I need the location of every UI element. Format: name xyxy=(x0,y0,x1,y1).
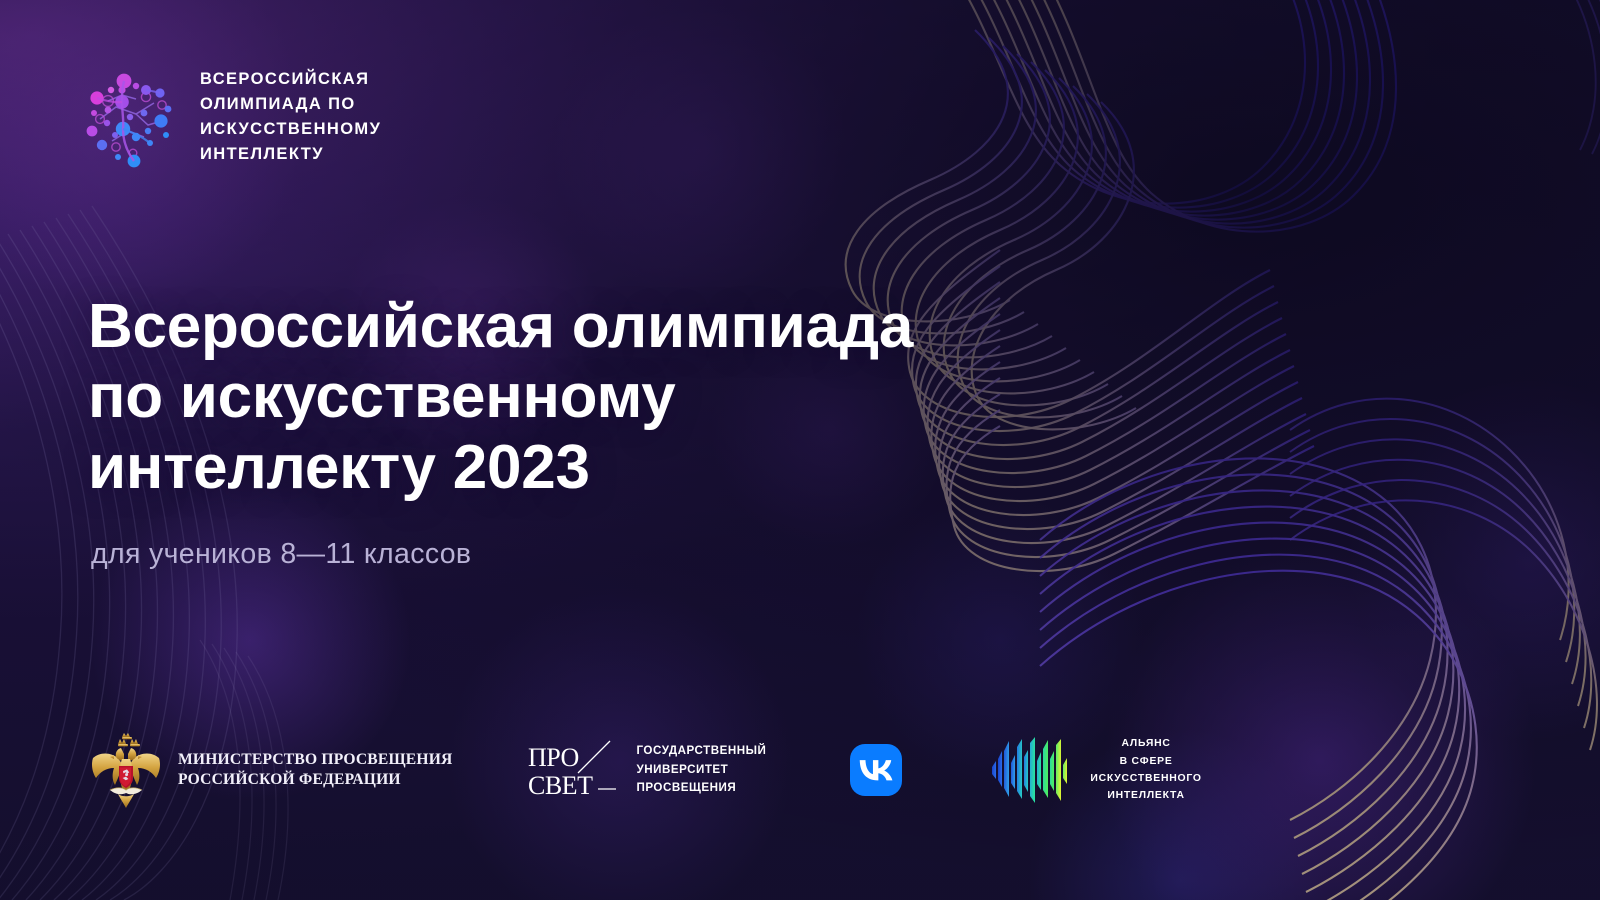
page-title: Всероссийская олимпиада по искусственном… xyxy=(88,292,988,503)
partner-label-ai-alliance: АЛЬЯНС В СФЕРЕ ИСКУССТВЕННОГО ИНТЕЛЛЕКТА xyxy=(1090,735,1201,804)
partner-logo-ministry-of-education[interactable]: МИНИСТЕРСТВО ПРОСВЕЩЕНИЯ РОССИЙСКОЙ ФЕДЕ… xyxy=(88,730,452,810)
partner-logo-ai-alliance[interactable]: АЛЬЯНС В СФЕРЕ ИСКУССТВЕННОГО ИНТЕЛЛЕКТА xyxy=(990,735,1201,804)
partner-label-prosvet-university: ГОСУДАРСТВЕННЫЙ УНИВЕРСИТЕТ ПРОСВЕЩЕНИЯ xyxy=(636,742,766,798)
partner-logo-strip: МИНИСТЕРСТВО ПРОСВЕЩЕНИЯ РОССИЙСКОЙ ФЕДЕ… xyxy=(88,722,1202,818)
partner-label-ministry-of-education: МИНИСТЕРСТВО ПРОСВЕЩЕНИЯ РОССИЙСКОЙ ФЕДЕ… xyxy=(178,750,452,791)
russian-double-headed-eagle-icon xyxy=(88,730,164,810)
hero-block: Всероссийская олимпиада по искусственном… xyxy=(88,292,988,571)
page-subtitle: для учеников 8—11 классов xyxy=(91,537,988,571)
partner-logo-vk[interactable] xyxy=(850,744,902,796)
olympiad-logo-wordmark: ВСЕРОССИЙСКАЯ ОЛИМПИАДА ПО ИСКУССТВЕННОМ… xyxy=(200,67,381,167)
alliance-soundwave-bars-icon xyxy=(990,737,1072,803)
olympiad-logo-lockup[interactable]: ВСЕРОССИЙСКАЯ ОЛИМПИАДА ПО ИСКУССТВЕННОМ… xyxy=(78,57,381,177)
vk-logo-icon xyxy=(850,744,902,796)
promo-banner: ВСЕРОССИЙСКАЯ ОЛИМПИАДА ПО ИСКУССТВЕННОМ… xyxy=(0,0,1600,900)
svg-text:СВЕТ: СВЕТ xyxy=(528,771,593,800)
svg-text:ПРО: ПРО xyxy=(528,743,579,772)
prosvet-monogram-icon: ПРО СВЕТ xyxy=(526,739,618,801)
partner-logo-prosvet-university[interactable]: ПРО СВЕТ ГОСУДАРСТВЕННЫЙ УНИВЕРСИТЕТ ПРО… xyxy=(526,739,766,801)
ai-network-nodes-icon xyxy=(78,57,180,177)
